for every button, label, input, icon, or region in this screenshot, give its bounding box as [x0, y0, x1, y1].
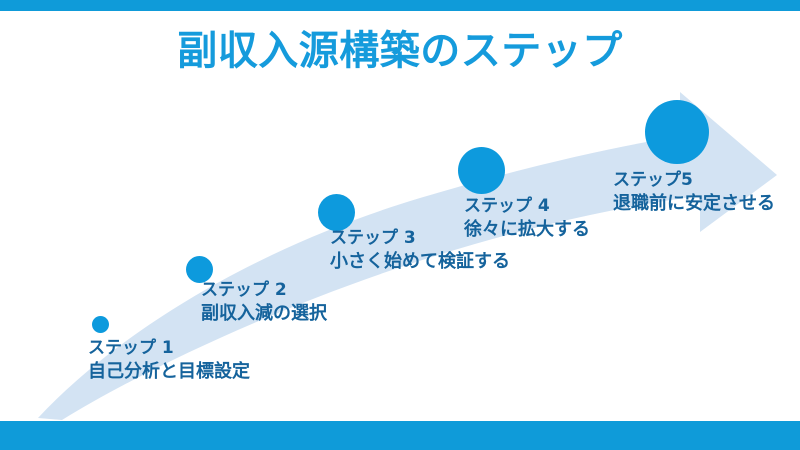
step-label-1: ステップ 1 自己分析と目標設定	[88, 338, 250, 383]
step-label-5: ステップ5 退職前に安定させる	[613, 170, 775, 215]
step-description-2: 副収入減の選択	[201, 302, 327, 325]
step-description-3: 小さく始めて検証する	[330, 250, 510, 273]
bottom-accent-bar	[0, 421, 800, 450]
step-heading-1: ステップ 1	[88, 338, 250, 360]
step-node-5	[645, 100, 709, 164]
step-label-2: ステップ 2 副収入減の選択	[201, 280, 327, 325]
slide-canvas: 副収入源構築のステップ ステップ 1 自己分析と目標設定 ステップ 2 副収入減…	[0, 0, 800, 450]
step-label-4: ステップ 4 徐々に拡大する	[464, 196, 590, 241]
step-node-1	[92, 316, 109, 333]
step-heading-5: ステップ5	[613, 170, 775, 192]
step-description-4: 徐々に拡大する	[464, 218, 590, 241]
step-description-1: 自己分析と目標設定	[88, 360, 250, 383]
step-node-2	[186, 256, 213, 283]
step-node-3	[318, 194, 355, 231]
step-heading-4: ステップ 4	[464, 196, 590, 218]
step-description-5: 退職前に安定させる	[613, 192, 775, 215]
step-heading-2: ステップ 2	[201, 280, 327, 302]
step-node-4	[458, 147, 505, 194]
